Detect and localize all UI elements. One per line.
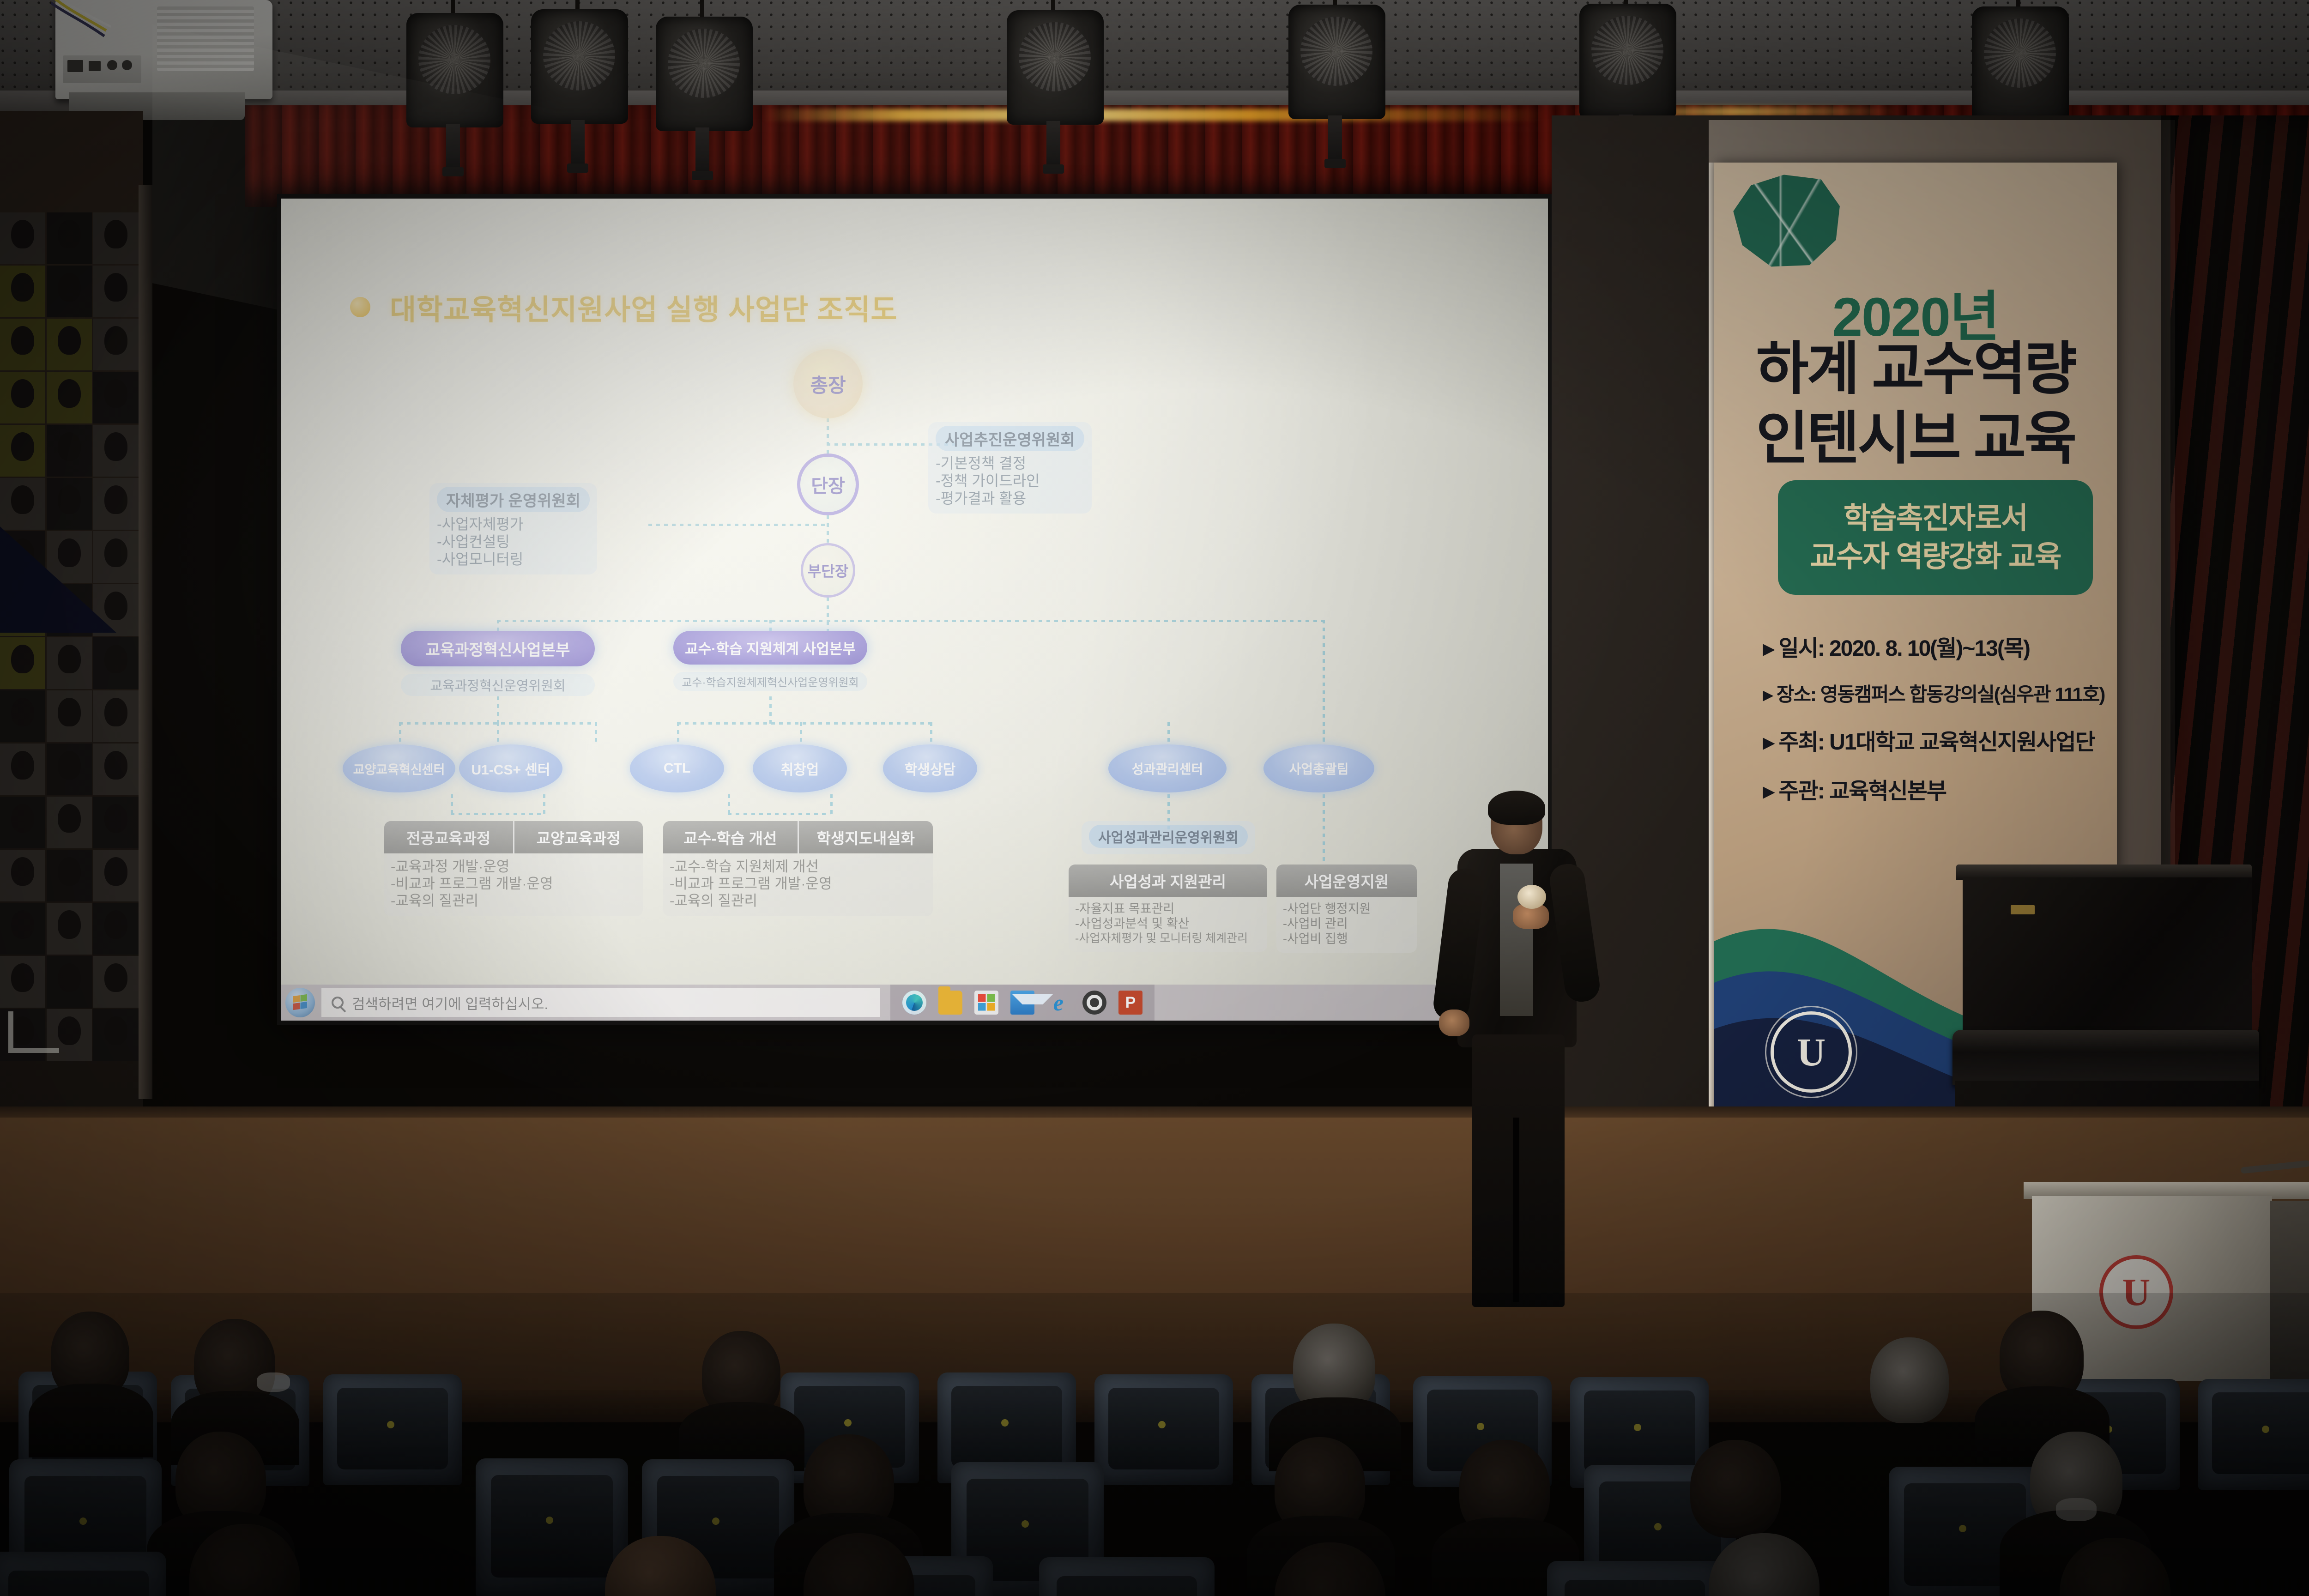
connector-hq-bus bbox=[497, 620, 1324, 622]
node-director-label: 단장 bbox=[811, 471, 845, 498]
collage-photo bbox=[47, 266, 92, 317]
leafbox-item: -비교과 프로그램 개발·운영 bbox=[670, 875, 926, 892]
collage-photo bbox=[47, 797, 92, 848]
center-pill-liberal-arts: 교양교육혁신센터 bbox=[343, 744, 455, 792]
committee-item: -평가결과 활용 bbox=[936, 490, 1084, 508]
banner-detail-host: 주최: U1대학교 교육혁신지원사업단 bbox=[1763, 724, 2117, 756]
seat-stud bbox=[1022, 1520, 1029, 1528]
leafbox-item: -교수-학습 지원체제 개선 bbox=[670, 858, 926, 875]
connector-vice-down bbox=[827, 598, 829, 631]
leafbox-head: 사업성과 지원관리 bbox=[1069, 864, 1267, 897]
collage-photo bbox=[93, 690, 139, 742]
collage-photo bbox=[93, 637, 139, 689]
university-seal-icon: U bbox=[1771, 1011, 1852, 1093]
connector-leaf-2-bus bbox=[728, 813, 830, 815]
stage-light-fresnel-5 bbox=[1288, 5, 1385, 119]
connector-hq-mid-drop bbox=[769, 620, 772, 632]
seat-pad bbox=[951, 1386, 1062, 1468]
slide-title-row: 대학교육혁신지원사업 실행 사업단 조직도 bbox=[350, 286, 1479, 328]
audience-shoulders bbox=[29, 1384, 153, 1457]
leafbox-item: -비교과 프로그램 개발·운영 bbox=[391, 875, 636, 892]
collage-photo bbox=[93, 850, 139, 901]
banner-detail-venue: 장소: 영동캠퍼스 합동강의실(심우관 111호) bbox=[1763, 679, 2117, 707]
seat-pad bbox=[1057, 1576, 1197, 1596]
connector-leaf-1-bus bbox=[451, 813, 543, 815]
edge-icon[interactable] bbox=[902, 991, 926, 1015]
banner-details-list: 일시: 2020. 8. 10(월)~13(목) 장소: 영동캠퍼스 합동강의실… bbox=[1763, 630, 2117, 822]
stage-light-fresnel-7 bbox=[1972, 6, 2069, 121]
audience-head bbox=[1690, 1440, 1781, 1538]
internet-explorer-icon[interactable]: e bbox=[1046, 991, 1070, 1015]
leafbox-performance-items: -자율지표 목표관리 -사업성과분석 및 확산 -사업자체평가 및 모니터링 체… bbox=[1069, 897, 1267, 952]
projector-port-vga bbox=[89, 61, 101, 71]
collage-photo bbox=[47, 956, 92, 1008]
seat-pad bbox=[1108, 1388, 1219, 1470]
collage-photo bbox=[0, 903, 45, 955]
hq-teaching-pill: 교수·학습 지원체계 사업본부 bbox=[673, 631, 867, 665]
leafbox-item: -사업성과분석 및 확산 bbox=[1075, 916, 1261, 931]
committee-item: -사업모니터링 bbox=[437, 551, 590, 568]
collage-photo bbox=[47, 690, 92, 742]
collage-photo bbox=[47, 319, 92, 370]
seat-stud bbox=[2262, 1426, 2269, 1433]
light-body-3 bbox=[656, 17, 753, 131]
collage-photo bbox=[0, 850, 45, 901]
leafbox-teaching-items: -교수-학습 지원체제 개선 -비교과 프로그램 개발·운영 -교육의 질관리 bbox=[663, 853, 933, 916]
leafbox-head: 학생지도내실화 bbox=[798, 821, 933, 853]
connector-leaf-2 bbox=[728, 794, 730, 815]
committee-self-evaluation-title: 자체평가 운영위원회 bbox=[437, 487, 590, 512]
hq-curriculum-innovation: 교육과정혁신사업본부 교육과정혁신운영위원회 bbox=[401, 631, 595, 696]
committee-self-evaluation-items: -사업자체평가 -사업컨설팅 -사업모니터링 bbox=[437, 516, 590, 568]
banner-subtitle-line2: 교수자 역량강화 교육 bbox=[1810, 538, 2061, 576]
node-chancellor: 총장 bbox=[793, 349, 863, 418]
piano-fallboard bbox=[1952, 1030, 2259, 1085]
leafbox-item: -교육의 질관리 bbox=[391, 892, 636, 909]
connector-leaf-2b bbox=[830, 794, 833, 815]
connector-director-vice bbox=[827, 515, 829, 544]
committee-item: -사업자체평가 bbox=[437, 516, 590, 533]
connector-center-6 bbox=[930, 722, 932, 746]
center-pill-ctl: CTL bbox=[630, 744, 724, 792]
banner-detail-organizer: 주관: 교육혁신본부 bbox=[1763, 773, 2117, 805]
center-pill-u1cs: U1-CS+ 센터 bbox=[459, 744, 562, 792]
seat-stud bbox=[844, 1419, 852, 1427]
collage-photo bbox=[93, 478, 139, 530]
node-vice-director: 부단장 bbox=[801, 543, 855, 598]
seat bbox=[1547, 1561, 1723, 1596]
piano-brand-badge bbox=[2011, 905, 2035, 914]
hq-teaching-learning: 교수·학습 지원체계 사업본부 교수·학습지원체제혁신사업운영위원회 bbox=[673, 631, 867, 691]
collage-photo bbox=[0, 744, 45, 795]
connector-chancellor-director bbox=[827, 418, 829, 455]
collage-photo bbox=[0, 797, 45, 848]
collage-photo bbox=[93, 797, 139, 848]
collage-photo bbox=[0, 425, 45, 477]
collage-photo bbox=[93, 372, 139, 423]
connector-hq-left-drop bbox=[497, 620, 499, 632]
light-body-4 bbox=[1007, 10, 1104, 125]
center-pill-project-management-team: 사업총괄팀 bbox=[1263, 744, 1374, 792]
leafbox-teaching: 교수-학습 개선 학생지도내실화 -교수-학습 지원체제 개선 -비교과 프로그… bbox=[663, 821, 933, 916]
collage-photo bbox=[93, 266, 139, 317]
photo-collage-poster bbox=[0, 212, 139, 1067]
hq-curriculum-subcommittee: 교육과정혁신운영위원회 bbox=[401, 674, 595, 696]
connector-center-1 bbox=[399, 722, 401, 746]
seat-pad bbox=[2212, 1392, 2309, 1475]
leafbox-operations-heads: 사업운영지원 bbox=[1276, 864, 1417, 897]
banner-subtitle-line1: 학습촉진자로서 bbox=[1844, 499, 2027, 538]
seat-stud bbox=[1477, 1423, 1484, 1430]
piano-upper-panel bbox=[1963, 877, 2252, 1036]
collage-photo bbox=[93, 531, 139, 583]
powerpoint-slide: 대학교육혁신지원사업 실행 사업단 조직도 bbox=[281, 199, 1548, 984]
collage-photo bbox=[47, 637, 92, 689]
node-director: 단장 bbox=[797, 453, 859, 515]
light-knob-2 bbox=[567, 163, 588, 173]
seat-stud bbox=[79, 1517, 87, 1525]
collage-photo bbox=[47, 744, 92, 795]
microphone-icon bbox=[1517, 885, 1546, 909]
center-pill-student-counseling: 학생상담 bbox=[883, 744, 977, 792]
light-lens-2 bbox=[543, 21, 615, 91]
presenter-hair bbox=[1488, 791, 1545, 825]
seat bbox=[323, 1374, 462, 1485]
search-input[interactable]: 검색하려면 여기에 입력하십시오. bbox=[321, 988, 880, 1017]
start-orb-icon[interactable] bbox=[285, 988, 315, 1017]
seat-stud bbox=[1634, 1424, 1641, 1431]
hq-teaching-subcommittee: 교수·학습지원체제혁신사업운영위원회 bbox=[673, 672, 867, 691]
light-lens-7 bbox=[1984, 18, 2056, 88]
stage-light-fresnel-4 bbox=[1007, 10, 1104, 125]
seat bbox=[2198, 1379, 2309, 1490]
light-body-2 bbox=[531, 9, 628, 124]
connector-teach-down bbox=[769, 696, 772, 724]
collage-photo bbox=[93, 212, 139, 264]
collage-photo bbox=[93, 956, 139, 1008]
collage-photo bbox=[47, 372, 92, 423]
banner-subtitle-box: 학습촉진자로서 교수자 역량강화 교육 bbox=[1778, 480, 2093, 595]
leafbox-curriculum: 전공교육과정 교양교육과정 -교육과정 개발·운영 -비교과 프로그램 개발·운… bbox=[384, 821, 643, 916]
leafbox-operations: 사업운영지원 -사업단 행정지원 -사업비 관리 -사업비 집행 bbox=[1276, 864, 1417, 953]
stage-light-fresnel-3 bbox=[656, 17, 753, 131]
left-panel-edge bbox=[139, 185, 152, 1099]
committee-self-evaluation: 자체평가 운영위원회 -사업자체평가 -사업컨설팅 -사업모니터링 bbox=[429, 483, 597, 574]
leafbox-head: 전공교육과정 bbox=[384, 821, 513, 853]
leafbox-head: 교양교육과정 bbox=[513, 821, 643, 853]
presenter-left-hand bbox=[1439, 1010, 1469, 1036]
stage-light-fresnel-6 bbox=[1579, 4, 1676, 118]
collage-photo bbox=[47, 531, 92, 583]
connector-center-7 bbox=[1167, 722, 1170, 746]
settings-gear-icon[interactable] bbox=[1082, 991, 1106, 1015]
microsoft-store-icon[interactable] bbox=[974, 991, 998, 1015]
presenter bbox=[1422, 794, 1607, 1348]
leafbox-head: 교수-학습 개선 bbox=[663, 821, 798, 853]
projector-vent bbox=[157, 6, 254, 71]
collage-photo bbox=[0, 478, 45, 530]
projection-screen: 대학교육혁신지원사업 실행 사업단 조직도 bbox=[281, 199, 1548, 1021]
collage-photo bbox=[47, 478, 92, 530]
committee-item: -기본정책 결정 bbox=[936, 455, 1084, 472]
light-body-1 bbox=[406, 13, 503, 127]
collage-photo bbox=[93, 425, 139, 477]
leafbox-item: -교육과정 개발·운영 bbox=[391, 858, 636, 875]
light-body-7 bbox=[1972, 6, 2069, 121]
leafbox-performance-heads: 사업성과 지원관리 bbox=[1069, 864, 1267, 897]
node-vice-director-label: 부단장 bbox=[808, 560, 848, 581]
hq-curriculum-pill: 교육과정혁신사업본부 bbox=[401, 631, 595, 666]
banner-heading: 하계 교수역량 인텐시브 교육 bbox=[1714, 334, 2117, 474]
leafbox-performance: 사업성과 지원관리 -자율지표 목표관리 -사업성과분석 및 확산 -사업자체평… bbox=[1069, 864, 1267, 952]
connector-teach-bus bbox=[677, 722, 932, 725]
seat bbox=[0, 1552, 166, 1596]
collage-photo bbox=[93, 1009, 139, 1061]
light-knob-1 bbox=[442, 167, 464, 176]
collage-photo bbox=[93, 744, 139, 795]
leafbox-item: -사업단 행정지원 bbox=[1283, 901, 1410, 916]
collage-photo bbox=[0, 372, 45, 423]
connector-leaf-1 bbox=[451, 794, 453, 815]
leafbox-curriculum-heads: 전공교육과정 교양교육과정 bbox=[384, 821, 643, 853]
seat-pad bbox=[1584, 1390, 1695, 1473]
light-body-5 bbox=[1288, 5, 1385, 119]
bullet-dot-icon bbox=[350, 297, 370, 317]
search-icon bbox=[332, 997, 344, 1009]
committee-promotion: 사업추진운영위원회 -기본정책 결정 -정책 가이드라인 -평가결과 활용 bbox=[928, 422, 1092, 514]
seat-stud bbox=[546, 1517, 553, 1524]
node-chancellor-label: 총장 bbox=[810, 370, 846, 398]
light-lens-6 bbox=[1591, 16, 1663, 85]
collage-photo bbox=[0, 690, 45, 742]
light-knob-5 bbox=[1324, 159, 1346, 168]
seat-stud bbox=[387, 1421, 394, 1428]
slide-title: 대학교육혁신지원사업 실행 사업단 조직도 bbox=[390, 286, 897, 328]
leafbox-head: 사업운영지원 bbox=[1276, 864, 1417, 897]
collage-photo bbox=[93, 903, 139, 955]
seat-stud bbox=[1959, 1525, 1966, 1532]
light-lens-5 bbox=[1300, 17, 1372, 86]
seat bbox=[1039, 1557, 1215, 1596]
collage-photo bbox=[47, 425, 92, 477]
projector-cables bbox=[51, 0, 134, 54]
connector-leaf-1b bbox=[543, 794, 545, 815]
leafbox-curriculum-items: -교육과정 개발·운영 -비교과 프로그램 개발·운영 -교육의 질관리 bbox=[384, 853, 643, 916]
seat-pad bbox=[337, 1388, 448, 1470]
light-knob-3 bbox=[692, 171, 713, 180]
collage-photo bbox=[47, 850, 92, 901]
banner-heading-line2: 인텐시브 교육 bbox=[1714, 404, 2117, 474]
seat-pad bbox=[8, 1571, 149, 1596]
light-body-6 bbox=[1579, 4, 1676, 118]
seat-stud bbox=[1158, 1421, 1166, 1428]
committee-performance-title: 사업성과관리운영위원회 bbox=[1089, 825, 1248, 848]
leafbox-item: -교육의 질관리 bbox=[670, 892, 926, 909]
connector-center-2 bbox=[497, 722, 499, 746]
seat-pad bbox=[491, 1475, 613, 1578]
presenter-leg-gap bbox=[1513, 1118, 1519, 1302]
center-pill-performance-management: 성과관리센터 bbox=[1108, 744, 1227, 792]
light-lens-4 bbox=[1019, 22, 1091, 91]
connector-center-8 bbox=[1323, 722, 1325, 746]
collage-photo bbox=[0, 637, 45, 689]
connector-to-selfeval-committee bbox=[648, 524, 828, 526]
committee-performance-management: 사업성과관리운영위원회 bbox=[1082, 821, 1255, 854]
face-mask bbox=[257, 1372, 290, 1392]
committee-item: -정책 가이드라인 bbox=[936, 472, 1084, 490]
taskbar-pinned-apps: e P bbox=[890, 985, 1154, 1021]
windows-taskbar[interactable]: 검색하려면 여기에 입력하십시오. e P bbox=[281, 985, 1548, 1021]
face-mask bbox=[2056, 1498, 2097, 1521]
mail-icon[interactable] bbox=[1010, 991, 1034, 1015]
ceiling-projector bbox=[55, 0, 272, 129]
committee-item: -사업컨설팅 bbox=[437, 533, 590, 551]
seat bbox=[476, 1458, 628, 1596]
collage-photo bbox=[0, 266, 45, 317]
leafbox-item: -사업자체평가 및 모니터링 체계관리 bbox=[1075, 931, 1261, 945]
auditorium-scene: 대학교육혁신지원사업 실행 사업단 조직도 bbox=[0, 0, 2309, 1596]
collage-photo bbox=[0, 319, 45, 370]
light-lens-1 bbox=[418, 25, 490, 94]
leaf-icon bbox=[1729, 168, 1848, 278]
connector-center-4 bbox=[677, 722, 679, 746]
audience-seating bbox=[0, 1293, 2309, 1596]
leafbox-item: -사업비 관리 bbox=[1283, 916, 1410, 931]
org-chart: 총장 단장 부단장 사업추진운영위원회 -기본정책 결정 -정책 가이드라인 -… bbox=[350, 345, 1479, 940]
connector-curr-down bbox=[497, 696, 499, 724]
collage-photo bbox=[0, 212, 45, 264]
file-explorer-icon[interactable] bbox=[938, 991, 962, 1015]
committee-promotion-items: -기본정책 결정 -정책 가이드라인 -평가결과 활용 bbox=[936, 455, 1084, 507]
committee-promotion-title: 사업추진운영위원회 bbox=[936, 426, 1084, 451]
seat-pad bbox=[1565, 1580, 1705, 1596]
projector-port-hdmi bbox=[67, 60, 83, 72]
valance-light-glow bbox=[762, 109, 1547, 121]
collage-photo bbox=[47, 903, 92, 955]
projector-port-video bbox=[122, 60, 132, 70]
collage-photo bbox=[93, 319, 139, 370]
seat-stud bbox=[1001, 1419, 1009, 1427]
seat-stud bbox=[1654, 1523, 1662, 1530]
banner-heading-line1: 하계 교수역량 bbox=[1714, 334, 2117, 404]
search-placeholder-text: 검색하려면 여기에 입력하십시오. bbox=[352, 992, 548, 1013]
collage-photo bbox=[47, 212, 92, 264]
stage-light-fresnel-2 bbox=[531, 9, 628, 124]
projector-port-audio bbox=[107, 60, 117, 70]
leafbox-operations-items: -사업단 행정지원 -사업비 관리 -사업비 집행 bbox=[1276, 897, 1417, 953]
center-pill-employment: 취창업 bbox=[753, 744, 847, 792]
powerpoint-icon[interactable]: P bbox=[1118, 991, 1142, 1015]
seat bbox=[1094, 1374, 1233, 1485]
connector-center-3 bbox=[595, 722, 597, 746]
leafbox-teaching-heads: 교수-학습 개선 학생지도내실화 bbox=[663, 821, 933, 853]
collage-photo bbox=[0, 956, 45, 1008]
seat-stud bbox=[712, 1517, 719, 1525]
projector-ports bbox=[63, 55, 141, 83]
leafbox-item: -자율지표 목표관리 bbox=[1075, 901, 1261, 916]
light-knob-4 bbox=[1043, 164, 1064, 174]
connector-center-5 bbox=[800, 722, 802, 746]
banner-detail-date: 일시: 2020. 8. 10(월)~13(목) bbox=[1763, 630, 2117, 662]
light-lens-3 bbox=[668, 29, 740, 98]
stage-light-fresnel-1 bbox=[406, 13, 503, 127]
leafbox-item: -사업비 집행 bbox=[1283, 931, 1410, 946]
audience-head bbox=[1870, 1337, 1949, 1423]
